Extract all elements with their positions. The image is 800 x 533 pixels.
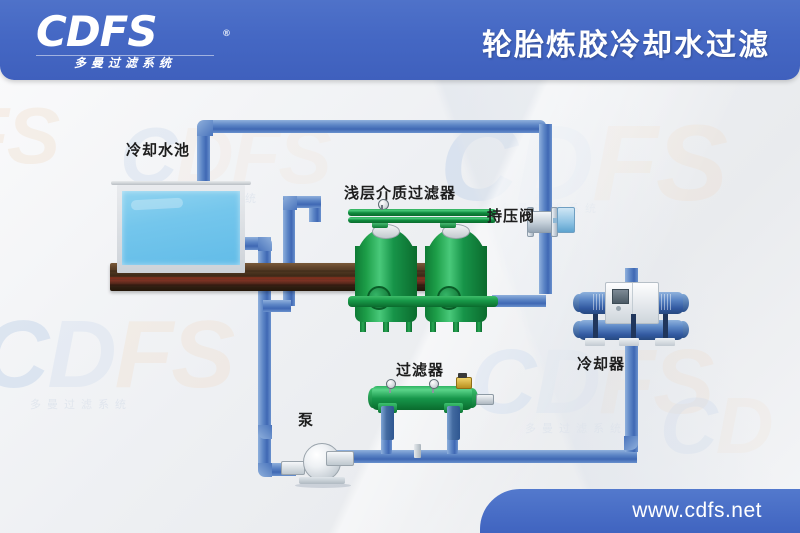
pipe-bottom-main bbox=[320, 450, 637, 463]
label-pressure-sustaining-valve: 持压阀 bbox=[487, 205, 535, 226]
watermark-logo: FS bbox=[0, 90, 58, 182]
watermark-sub: 多曼过滤系统 bbox=[30, 396, 132, 412]
filter-outlet-nozzle bbox=[476, 394, 494, 405]
logo-subtitle: 多曼过滤系统 bbox=[36, 54, 214, 71]
pipe-elbow-pool-outlet bbox=[258, 237, 272, 251]
watermark-logo: CDFS bbox=[0, 300, 233, 410]
tank-manifold-bottom bbox=[348, 296, 498, 307]
tank-manifold-top-2 bbox=[348, 217, 496, 223]
cooling-water-pool bbox=[117, 185, 245, 273]
label-cooler: 冷却器 bbox=[577, 353, 625, 374]
pipe-elbow-bottom-left bbox=[258, 425, 272, 439]
pipe-elbow-top-left bbox=[197, 120, 213, 136]
cooler-unit bbox=[573, 288, 689, 350]
registered-trademark-icon: ® bbox=[222, 12, 230, 56]
pressure-gauge-icon bbox=[386, 379, 396, 389]
pressure-gauge-icon bbox=[429, 379, 439, 389]
watermark-logo: CDFS bbox=[440, 100, 726, 225]
filter-tank-right bbox=[425, 228, 487, 322]
watermark-logo: CD bbox=[660, 380, 772, 472]
tank-manifold-top bbox=[348, 209, 496, 216]
filter-vent-handle-icon bbox=[458, 373, 467, 378]
cooler-display-screen bbox=[612, 289, 629, 304]
filter-drain-stub bbox=[414, 444, 421, 458]
watermark-sub: 多曼过滤系统 bbox=[525, 420, 627, 436]
label-shallow-media-filter: 浅层介质过滤器 bbox=[344, 182, 456, 203]
pipe-elbow-pump-suction bbox=[258, 463, 272, 477]
pipe-top-main bbox=[203, 120, 546, 133]
pipe-tank-riser-tee bbox=[263, 300, 291, 312]
pump-baseplate bbox=[299, 477, 345, 484]
page-header: CDFS ® 多曼过滤系统 轮胎炼胶冷却水过滤 bbox=[0, 0, 800, 80]
pipe-tank-outlet bbox=[492, 295, 546, 307]
diagram-canvas: CDFS 多曼过滤系统 CDFS 多曼过滤系统 CDFS 多曼过滤系统 CDFS… bbox=[0, 0, 800, 533]
label-cooling-pool: 冷却水池 bbox=[126, 139, 190, 160]
logo-wordmark: CDFS ® bbox=[36, 10, 226, 54]
label-pump: 泵 bbox=[298, 409, 314, 430]
pump-suction-flange bbox=[281, 461, 305, 475]
pipe-elbow-bottom-right bbox=[624, 436, 638, 450]
page-footer: www.cdfs.net bbox=[480, 489, 800, 533]
cooler-knob-icon[interactable] bbox=[616, 306, 621, 311]
website-url[interactable]: www.cdfs.net bbox=[632, 499, 762, 523]
pipe-elbow-tank-feed bbox=[283, 196, 297, 210]
pump-discharge-flange bbox=[326, 451, 354, 466]
filter-vent-valve bbox=[456, 377, 472, 389]
filter-vessel bbox=[368, 386, 488, 438]
brand-logo[interactable]: CDFS ® 多曼过滤系统 bbox=[36, 10, 226, 72]
pump-unit bbox=[295, 443, 365, 483]
valve-handle-icon bbox=[557, 207, 575, 233]
label-filter: 过滤器 bbox=[396, 359, 444, 380]
filter-tank-left bbox=[355, 228, 417, 322]
page-title: 轮胎炼胶冷却水过滤 bbox=[482, 20, 770, 64]
